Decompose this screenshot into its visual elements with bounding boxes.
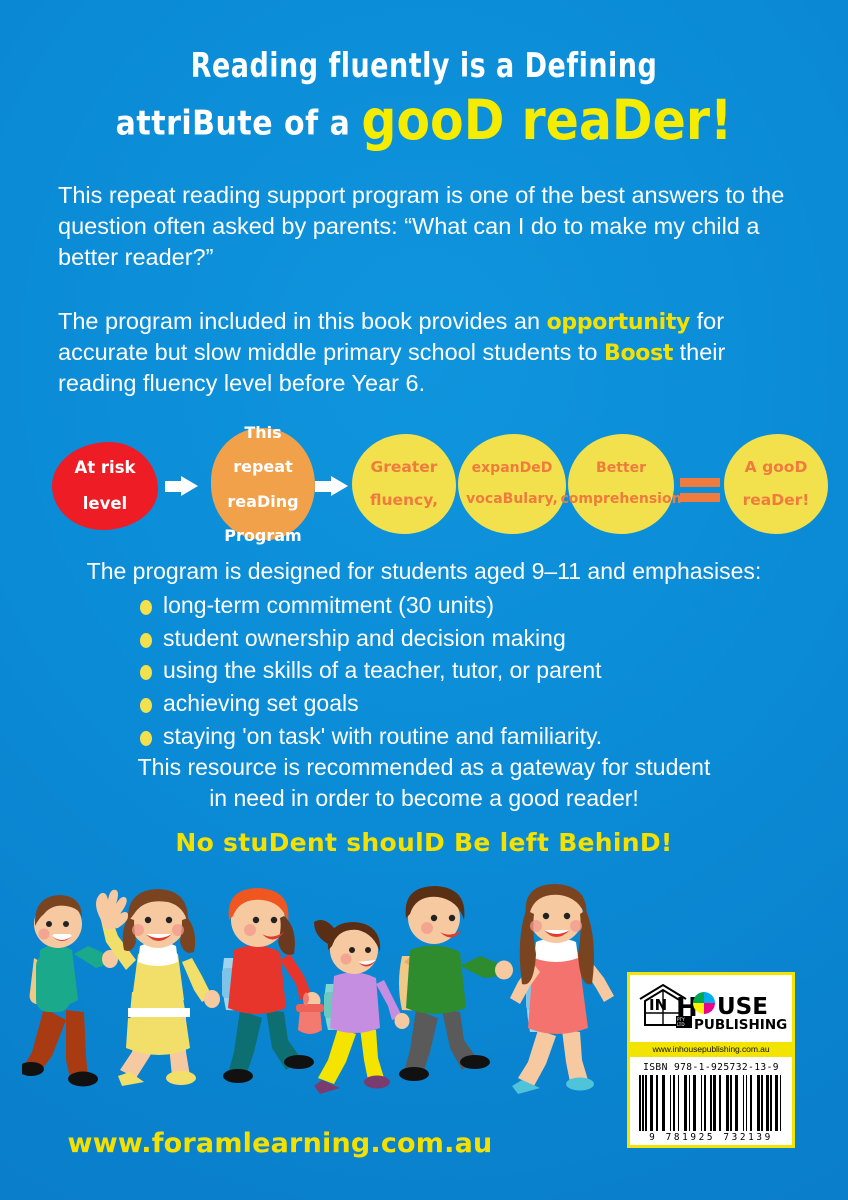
book-back-cover: Reading fluently is a Defining attriBute…	[0, 0, 848, 1200]
school-children-illustration	[22, 880, 642, 1130]
closing-line-2: in need in order to become a good reader…	[0, 783, 848, 814]
publisher-info-box: IN H USE PTY LTD PUBLISHING www.inhousep…	[627, 972, 795, 1148]
cmyk-circle-icon	[693, 992, 715, 1014]
bullet-dot-icon	[140, 633, 152, 648]
barcode-number: 9 781925 732139	[639, 1131, 783, 1143]
svg-text:IN: IN	[649, 996, 667, 1014]
list-item-label: using the skills of a teacher, tutor, or…	[163, 657, 602, 684]
flow-node-program-label: Thisrepeat reaDingProgram	[216, 424, 309, 545]
flow-node-at-risk-label: At risklevel	[67, 459, 144, 512]
headline-line-2: attriBute of a gooD reaDer!	[0, 93, 848, 149]
list-item-label: student ownership and decision making	[163, 625, 566, 652]
isbn-text: ISBN 978-1-925732-13-9	[630, 1057, 792, 1075]
highlight-boost: Boost	[604, 341, 673, 366]
list-item: achieving set goals	[140, 690, 800, 717]
child-girl-pink	[510, 884, 614, 1094]
list-item-label: staying 'on task' with routine and famil…	[163, 723, 602, 750]
flow-node-vocabulary-label: expanDeDvocaBulary,	[458, 461, 566, 506]
headline: Reading fluently is a Defining attriBute…	[0, 52, 848, 146]
flow-node-comprehension: Bettercomprehension	[568, 434, 674, 534]
equals-sign-icon	[680, 478, 720, 504]
bullet-dot-icon	[140, 731, 152, 746]
closing-text: This resource is recommended as a gatewa…	[0, 752, 848, 814]
svg-text:PUBLISHING: PUBLISHING	[694, 1017, 787, 1033]
bullet-dot-icon	[140, 600, 152, 615]
tagline: No stuDent shoulD Be left BehinD!	[0, 828, 848, 857]
headline-line-2-small: attriBute of a	[116, 104, 351, 143]
publisher-website[interactable]: www.inhousepublishing.com.au	[630, 1042, 792, 1057]
footer-website-url[interactable]: www.foramlearning.com.au	[0, 1128, 560, 1159]
list-item: using the skills of a teacher, tutor, or…	[140, 657, 800, 684]
flow-node-fluency: Greaterfluency,	[352, 434, 456, 534]
list-item: long-term commitment (30 units)	[140, 592, 800, 619]
flow-node-fluency-label: Greaterfluency,	[362, 459, 446, 509]
child-boy-green	[399, 886, 513, 1081]
program-paragraph-part-a: The program included in this book provid…	[58, 308, 547, 334]
headline-line-1: Reading fluently is a Defining	[0, 50, 848, 84]
list-intro: The program is designed for students age…	[0, 558, 848, 585]
list-item-label: long-term commitment (30 units)	[163, 592, 494, 619]
barcode-bars	[639, 1075, 783, 1132]
closing-line-1: This resource is recommended as a gatewa…	[0, 752, 848, 783]
child-girl-red	[222, 888, 324, 1083]
bullet-dot-icon	[140, 665, 152, 680]
bullet-dot-icon	[140, 698, 152, 713]
child-girl-yellow	[96, 889, 220, 1086]
flow-node-good-reader: A gooDreaDer!	[724, 434, 828, 534]
flow-node-at-risk: At risklevel	[52, 442, 158, 530]
highlight-opportunity: opportunity	[547, 310, 691, 335]
flow-node-good-reader-label: A gooDreaDer!	[735, 459, 818, 509]
list-item-label: achieving set goals	[163, 690, 359, 717]
arrow-right-icon-2	[315, 476, 349, 496]
arrow-right-icon-1	[165, 476, 199, 496]
child-girl-purple	[314, 920, 410, 1094]
list-item: staying 'on task' with routine and famil…	[140, 723, 800, 750]
list-item: student ownership and decision making	[140, 625, 800, 652]
flow-node-vocabulary: expanDeDvocaBulary,	[458, 434, 566, 534]
program-paragraph: The program included in this book provid…	[58, 306, 803, 399]
headline-emphasis-good-reader: gooD reaDer!	[361, 88, 732, 152]
svg-text:LTD: LTD	[677, 1022, 685, 1027]
outcome-flow-diagram: At risklevel Thisrepeat reaDingProgram G…	[52, 428, 812, 540]
flow-node-comprehension-label: Bettercomprehension	[552, 461, 689, 506]
isbn-barcode: 9 781925 732139	[630, 1075, 792, 1146]
flow-node-program: Thisrepeat reaDingProgram	[211, 428, 315, 540]
publisher-logo: IN H USE PTY LTD PUBLISHING	[630, 975, 792, 1042]
intro-paragraph: This repeat reading support program is o…	[58, 180, 798, 273]
features-list: long-term commitment (30 units) student …	[140, 592, 800, 755]
